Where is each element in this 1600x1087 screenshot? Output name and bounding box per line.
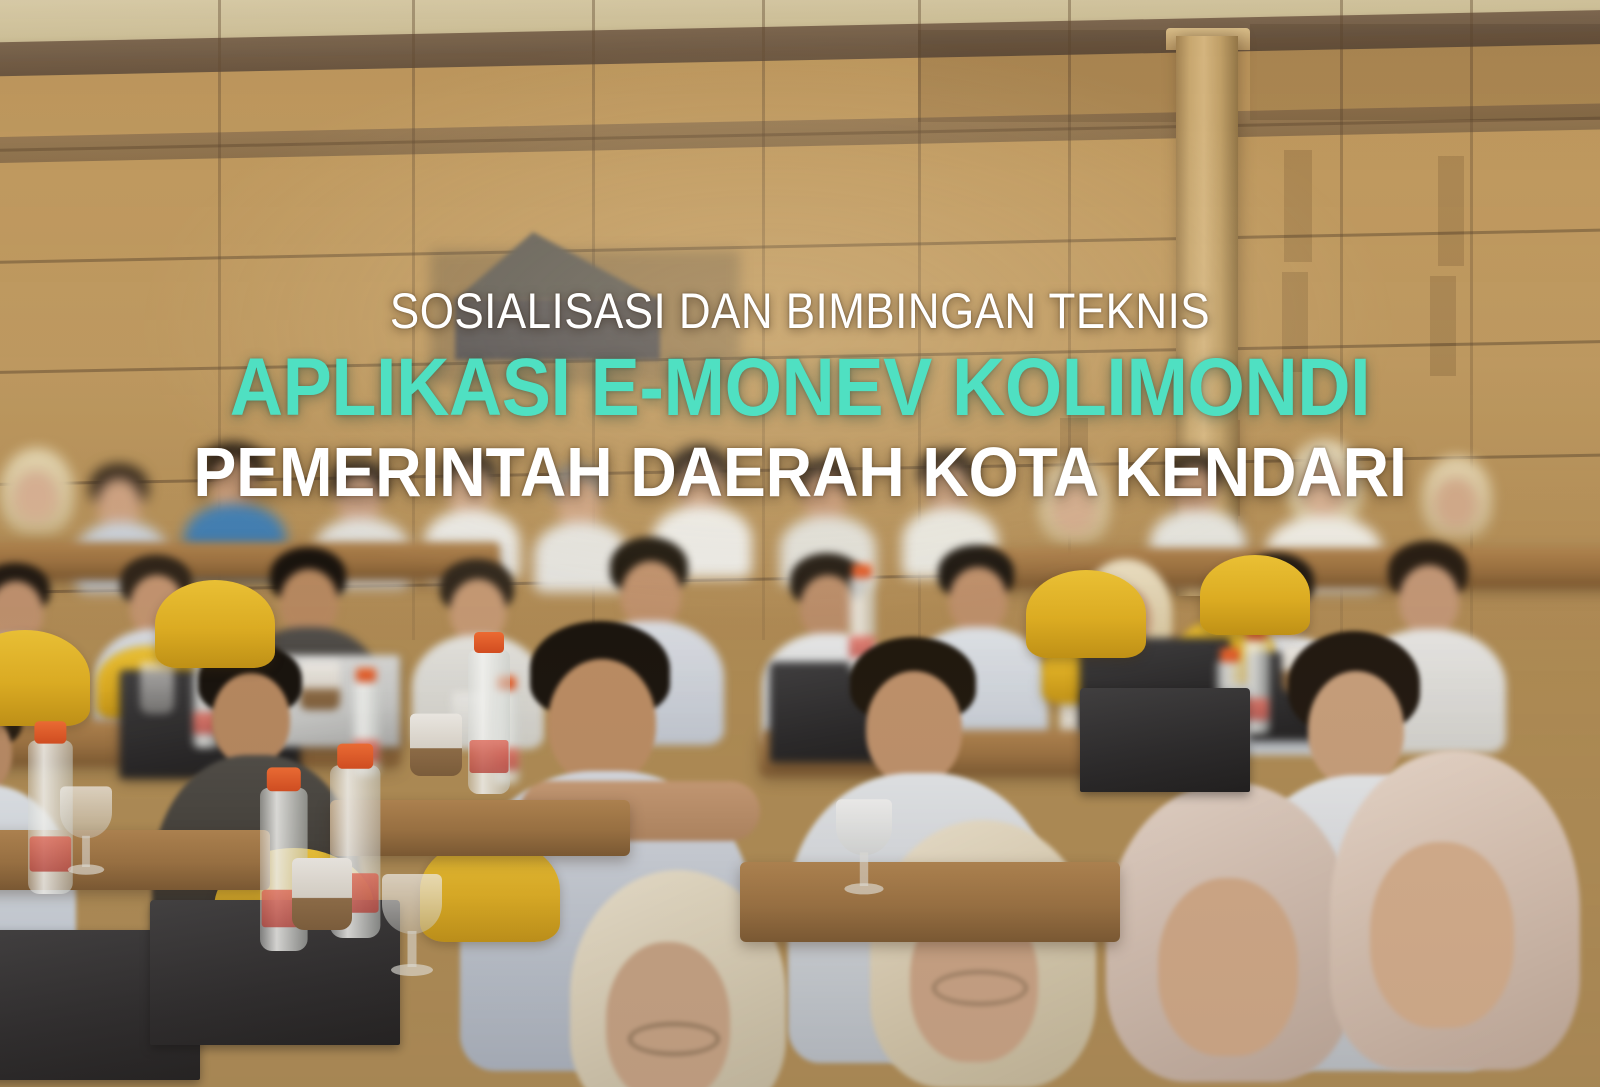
- wall-seam-h: [0, 227, 1600, 265]
- laptop: [1080, 688, 1250, 792]
- coffee-cup: [292, 858, 352, 930]
- conference-table: [740, 862, 1120, 942]
- wall-panel-shade: [1250, 24, 1600, 120]
- chair: [1026, 570, 1146, 658]
- chair: [155, 580, 275, 668]
- wall-panel-shade: [1284, 150, 1312, 262]
- wall-panel-shade: [1282, 272, 1308, 372]
- water-goblet: [382, 874, 442, 982]
- wall-panel-shade: [1430, 276, 1456, 376]
- screenshot-root: SOSIALISASI DAN BIMBINGAN TEKNIS APLIKAS…: [0, 0, 1600, 1087]
- water-goblet: [60, 786, 112, 880]
- water-bottle: [468, 650, 510, 794]
- water-goblet: [836, 799, 892, 900]
- eyeglasses: [628, 1022, 720, 1056]
- wall-panel-shade: [1438, 156, 1464, 266]
- wall-seam-h: [0, 338, 1600, 375]
- conference-photo: [0, 0, 1600, 1087]
- coffee-cup: [410, 714, 462, 776]
- audience: [0, 430, 1600, 1087]
- ceiling-fixture-roof: [455, 232, 658, 300]
- chair: [1200, 555, 1310, 635]
- eyeglasses: [932, 970, 1028, 1006]
- ceiling-fixture-body: [455, 298, 660, 360]
